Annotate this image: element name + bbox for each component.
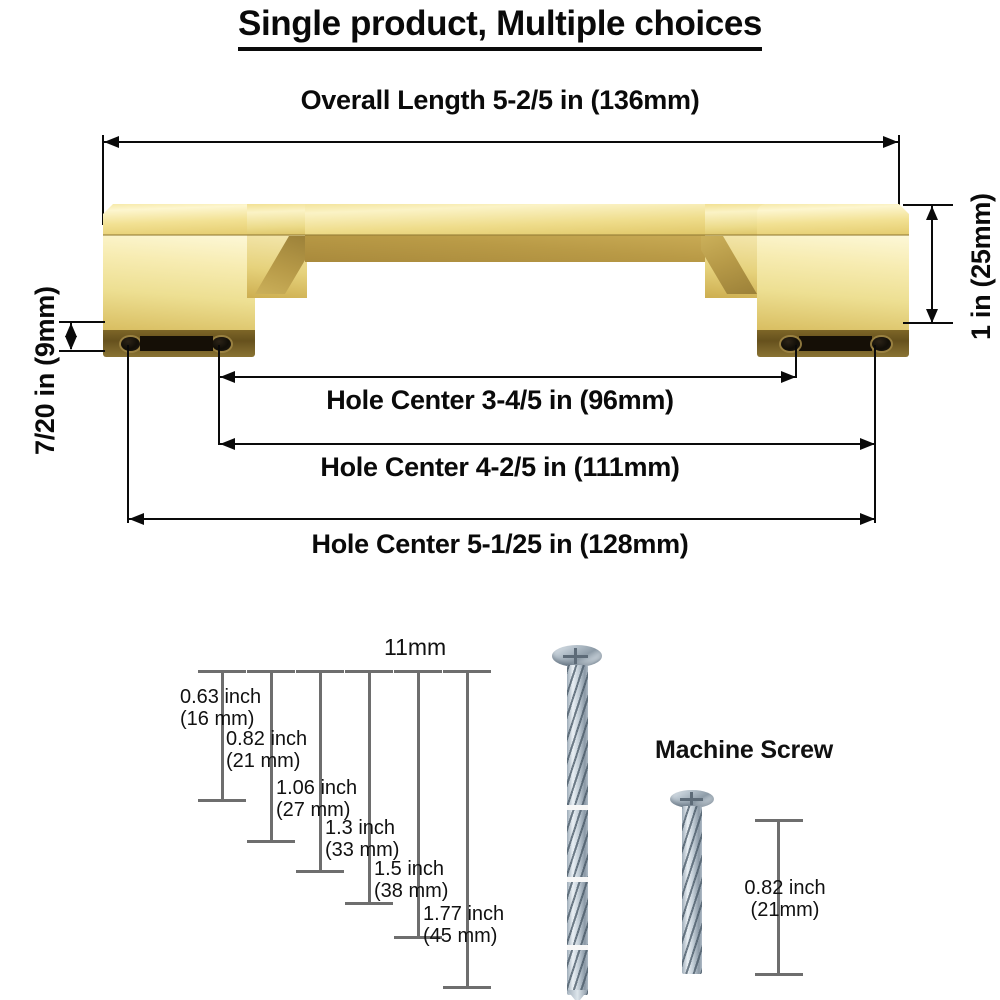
screw-breakpoint-1 xyxy=(567,805,588,810)
ladder-3-bottom-bar xyxy=(296,870,344,873)
arrow-right-icon xyxy=(860,438,875,450)
page-title-text: Single product, Multiple choices xyxy=(238,4,762,51)
overall-dim-line xyxy=(104,141,898,143)
handle-left-pad-top xyxy=(103,204,255,236)
ladder-1-label: 0.63 inch (16 mm) xyxy=(180,686,261,731)
machine-screw-drive-slot-h xyxy=(680,798,703,801)
ladder-1-bottom-bar xyxy=(198,799,246,802)
ladder-3-line xyxy=(319,670,322,872)
machine-screw-shaft xyxy=(682,806,702,974)
handle-right-neck-top xyxy=(705,204,765,236)
arrow-down-icon xyxy=(65,336,77,350)
arrow-left-icon xyxy=(104,136,119,148)
height-dim-line xyxy=(931,206,933,322)
mounting-hole-right-inner xyxy=(781,337,800,351)
page-title: Single product, Multiple choices xyxy=(0,4,1000,51)
hole-center-111-label: Hole Center 4-2/5 in (111mm) xyxy=(0,452,1000,483)
handle-right-pad-top xyxy=(757,204,909,236)
ladder-6-label-line2: (45 mm) xyxy=(423,925,504,947)
handle-left-recess xyxy=(140,336,213,351)
leader-right-outer xyxy=(874,345,876,523)
hole-96-dim-line xyxy=(220,376,796,378)
mounting-hole-left-outer xyxy=(121,337,140,351)
ladder-5-label-line2: (38 mm) xyxy=(374,880,448,902)
ladder-4-line xyxy=(368,670,371,904)
cabinet-pull-handle xyxy=(95,196,915,361)
thickness-ext-bottom xyxy=(59,350,105,352)
screw-drive-slot-h xyxy=(563,655,588,658)
arrow-right-icon xyxy=(860,513,875,525)
arrow-left-icon xyxy=(220,438,235,450)
arrow-left-icon xyxy=(220,371,235,383)
arrow-right-icon xyxy=(781,371,796,383)
ladder-3-label: 1.06 inch (27 mm) xyxy=(276,777,357,822)
ladder-4-label-line1: 1.3 inch xyxy=(325,817,399,839)
handle-bevel-seam xyxy=(103,234,909,236)
arrow-up-icon xyxy=(926,206,938,220)
long-combo-screw xyxy=(548,645,606,995)
screw-breakpoint-3 xyxy=(567,945,588,950)
arrow-up-icon xyxy=(65,323,77,337)
short-screw-bottom-bar xyxy=(755,973,803,976)
ladder-2-label-line2: (21 mm) xyxy=(226,750,307,772)
arrow-down-icon xyxy=(926,309,938,323)
hole-128-dim-line xyxy=(129,518,875,520)
handle-left-pad-face xyxy=(103,235,255,331)
mounting-hole-left-inner xyxy=(212,337,231,351)
short-screw-label: 0.82 inch (21mm) xyxy=(700,877,870,922)
thickness-label: 7/20 in (9mm) xyxy=(30,286,61,455)
ladder-6-bottom-bar xyxy=(443,986,491,989)
hole-center-96-label: Hole Center 3-4/5 in (96mm) xyxy=(0,385,1000,416)
ladder-5-label-line1: 1.5 inch xyxy=(374,858,448,880)
hole-111-dim-line xyxy=(220,443,875,445)
handle-left-neck-top xyxy=(247,204,307,236)
arrow-right-icon xyxy=(883,136,898,148)
ladder-2-label: 0.82 inch (21 mm) xyxy=(226,728,307,773)
handle-bar-face xyxy=(305,235,707,262)
overall-length-label: Overall Length 5-2/5 in (136mm) xyxy=(0,85,1000,116)
handle-right-pad-face xyxy=(757,235,909,331)
ladder-1-label-line1: 0.63 inch xyxy=(180,686,261,708)
ladder-6-label-line1: 1.77 inch xyxy=(423,903,504,925)
hole-center-128-label: Hole Center 5-1/25 in (128mm) xyxy=(0,529,1000,560)
height-label: 1 in (25mm) xyxy=(966,193,997,340)
screw-top-note: 11mm xyxy=(384,634,446,661)
short-screw-label-line2: (21mm) xyxy=(700,899,870,921)
short-screw-label-line1: 0.82 inch xyxy=(700,877,870,899)
ladder-2-label-line1: 0.82 inch xyxy=(226,728,307,750)
ladder-4-label: 1.3 inch (33 mm) xyxy=(325,817,399,862)
handle-bar-top xyxy=(305,204,707,236)
ladder-6-label: 1.77 inch (45 mm) xyxy=(423,903,504,948)
leader-left-outer xyxy=(127,345,129,523)
machine-screw-label: Machine Screw xyxy=(655,736,833,765)
screw-tip xyxy=(567,990,588,1000)
ladder-2-bottom-bar xyxy=(247,840,295,843)
ladder-5-label: 1.5 inch (38 mm) xyxy=(374,858,448,903)
handle-right-recess xyxy=(799,336,872,351)
arrow-left-icon xyxy=(129,513,144,525)
ladder-3-label-line1: 1.06 inch xyxy=(276,777,357,799)
screw-breakpoint-2 xyxy=(567,877,588,882)
